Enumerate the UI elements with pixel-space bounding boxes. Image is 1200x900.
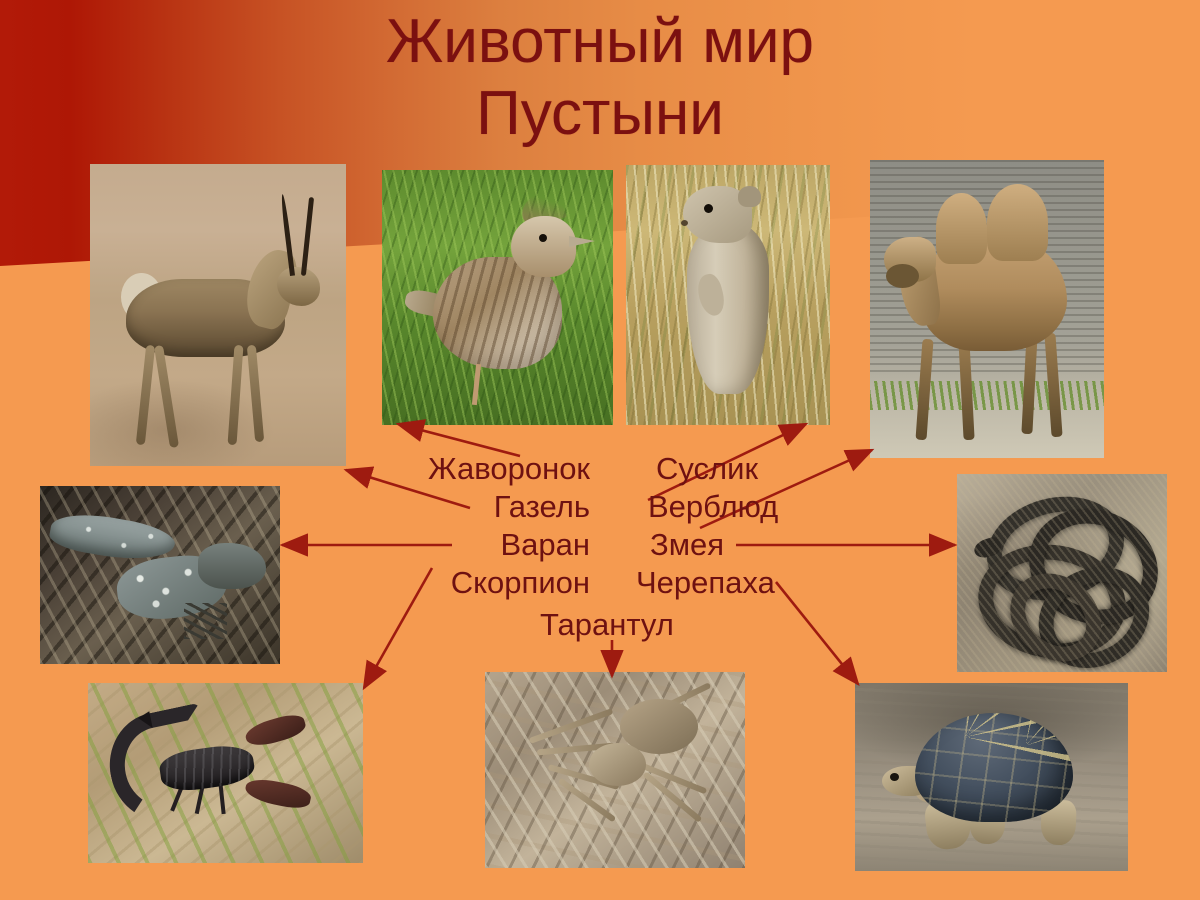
label-gazel[interactable]: Газель [330,490,590,524]
photo-lark[interactable] [382,170,613,425]
label-zhavoronok[interactable]: Жаворонок [330,452,590,486]
page-title: Животный мир Пустыни [0,6,1200,150]
photo-camel[interactable] [870,160,1104,458]
gazelle-illustration [90,164,346,466]
camel-grass [870,381,1104,411]
lark-illustration [382,170,613,425]
lark-leg [472,364,481,405]
snake-scales [957,474,1167,672]
varan-head [198,543,265,589]
suslik-illustration [626,165,830,425]
tarantula-illustration [485,672,745,868]
suslik-body [687,222,769,394]
camel-illustration [870,160,1104,458]
photo-gazelle[interactable] [90,164,346,466]
tarantula-cephalothorax [589,743,646,786]
tortoise-shell [915,713,1073,822]
suslik-eye [704,204,713,213]
label-skorpion[interactable]: Скорпион [330,566,590,600]
snake-illustration [957,474,1167,672]
photo-suslik[interactable] [626,165,830,425]
varan-illustration [40,486,280,664]
slide-canvas: Животный мир Пустыни [0,0,1200,900]
photo-snake[interactable] [957,474,1167,672]
scorpion-claw [243,775,312,812]
scorpion-illustration [88,683,363,863]
camel-hump [987,184,1048,261]
tortoise-illustration [855,683,1128,871]
varan-foot [184,603,227,639]
label-suslik[interactable]: Суслик [656,452,758,486]
scorpion-leg [218,782,225,815]
photo-varan[interactable] [40,486,280,664]
label-varan[interactable]: Варан [330,528,590,562]
photo-tarantula[interactable] [485,672,745,868]
lark-eye [539,234,547,242]
camel-hump [936,193,987,265]
gazelle-leg [247,345,264,442]
label-cherepaha[interactable]: Черепаха [636,566,775,600]
arrow-cherepaha [776,582,858,684]
label-verblyud[interactable]: Верблюд [648,490,778,524]
lark-head [511,216,576,277]
suslik-nose [681,220,688,226]
scorpion-claw [243,711,308,750]
label-zmeya[interactable]: Змея [650,528,724,562]
gazelle-leg [136,345,155,445]
lark-beak [569,236,595,247]
suslik-ear [738,186,760,207]
gazelle-leg [154,345,179,448]
photo-tortoise[interactable] [855,683,1128,871]
gazelle-horn [301,197,314,276]
tarantula-leg [528,708,613,744]
photo-scorpion[interactable] [88,683,363,863]
label-tarantul[interactable]: Тарантул [540,608,674,642]
gazelle-leg [227,345,243,445]
